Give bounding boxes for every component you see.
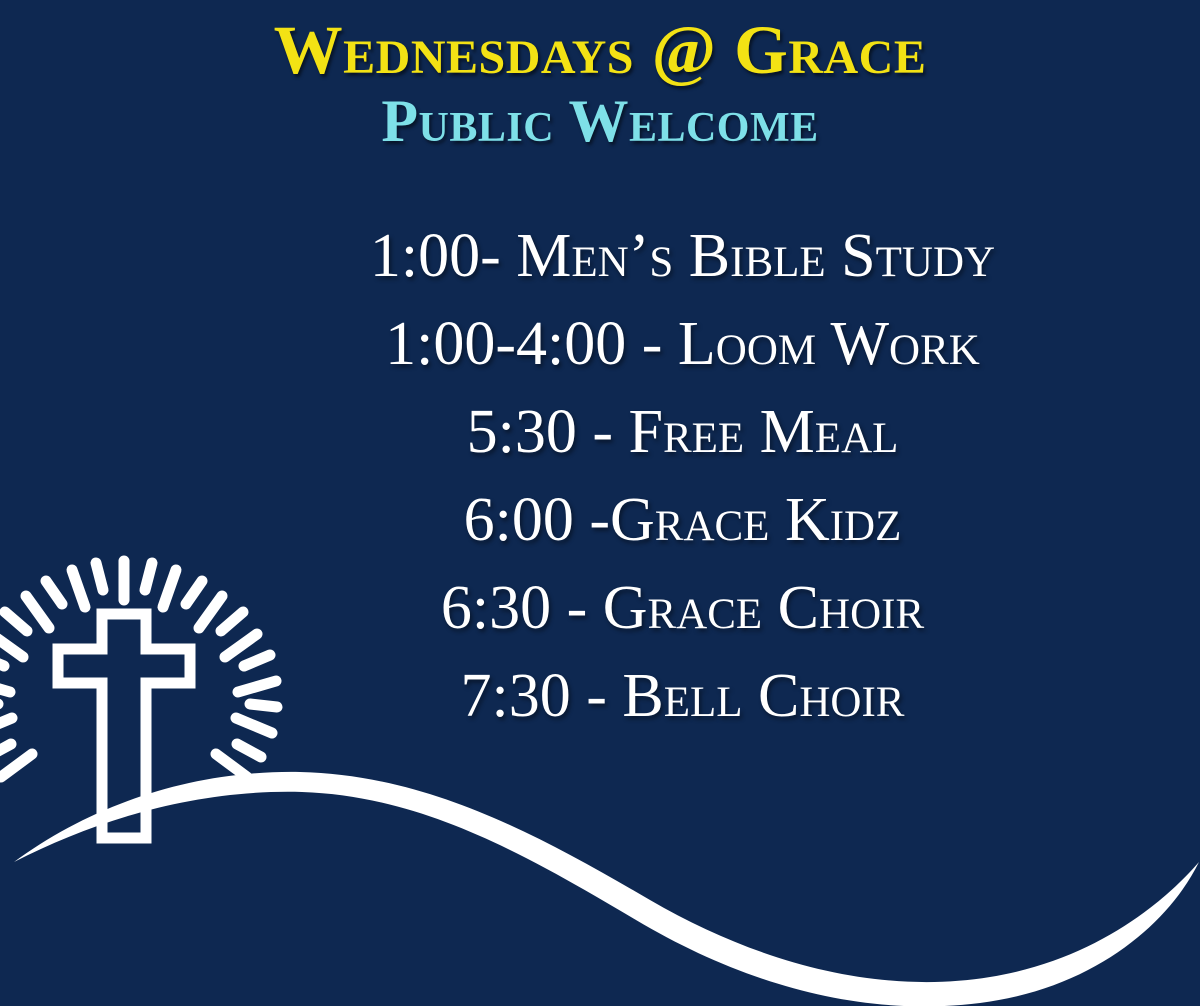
cross-icon: [58, 614, 190, 838]
schedule-item: 6:30 - Grace Choir: [230, 564, 1135, 652]
poster-subtitle: Public Welcome: [0, 85, 1200, 151]
schedule-item: 1:00- Men’s Bible Study: [230, 212, 1135, 300]
schedule-item: 1:00-4:00 - Loom Work: [230, 300, 1135, 388]
heading-block: Wednesdays @ Grace Public Welcome: [0, 0, 1200, 151]
poster-title: Wednesdays @ Grace: [0, 0, 1200, 85]
schedule-item: 5:30 - Free Meal: [230, 388, 1135, 476]
schedule-list: 1:00- Men’s Bible Study 1:00-4:00 - Loom…: [230, 212, 1135, 740]
schedule-item: 7:30 - Bell Choir: [230, 652, 1135, 740]
wave-swoosh-icon: [14, 772, 1199, 1006]
poster-canvas: Wednesdays @ Grace Public Welcome 1:00- …: [0, 0, 1200, 1006]
schedule-item: 6:00 -Grace Kidz: [230, 476, 1135, 564]
